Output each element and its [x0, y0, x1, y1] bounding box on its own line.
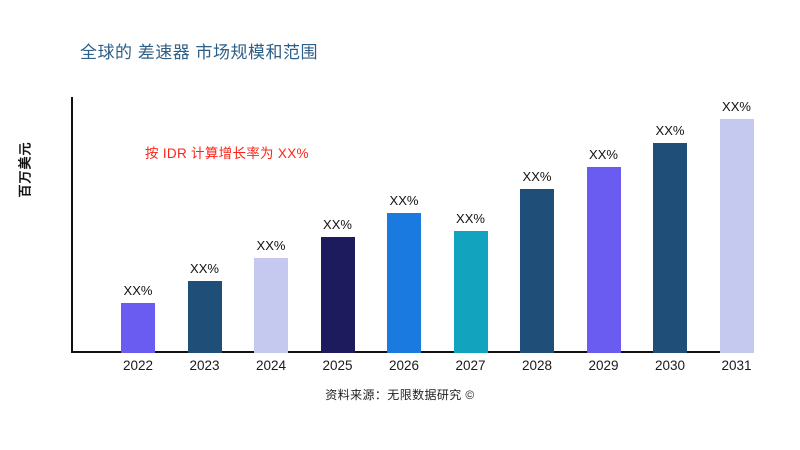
bar-group: XX% [569, 97, 639, 353]
bar-value-label: XX% [656, 124, 685, 137]
y-axis-label: 百万美元 [15, 120, 34, 220]
bar-2029[interactable] [587, 167, 621, 353]
category-label-2031: 2031 [702, 358, 772, 373]
bar-group: XX% [369, 97, 439, 353]
bar-value-label: XX% [323, 218, 352, 231]
bar-2025[interactable] [321, 237, 355, 353]
bar-value-label: XX% [257, 239, 286, 252]
bar-2031[interactable] [720, 119, 754, 353]
category-label-2024: 2024 [236, 358, 306, 373]
bar-group: XX% [170, 97, 240, 353]
bar-value-label: XX% [523, 170, 552, 183]
bar-2028[interactable] [520, 189, 554, 353]
category-label-2026: 2026 [369, 358, 439, 373]
bar-value-label: XX% [390, 194, 419, 207]
bar-value-label: XX% [589, 148, 618, 161]
bar-group: XX% [436, 97, 506, 353]
plot-area: XX%XX%XX%XX%XX%XX%XX%XX%XX%XX% [71, 97, 800, 353]
bar-group: XX% [635, 97, 705, 353]
bar-group: XX% [702, 97, 772, 353]
category-label-2022: 2022 [103, 358, 173, 373]
source-note: 资料来源：无限数据研究 © [0, 386, 800, 403]
chart-container: 全球的 差速器 市场规模和范围 百万美元 XX%XX%XX%XX%XX%XX%X… [0, 0, 800, 450]
growth-rate-annotation: 按 IDR 计算增长率为 XX% [145, 142, 309, 162]
bar-group: XX% [236, 97, 306, 353]
bar-value-label: XX% [456, 212, 485, 225]
category-label-2025: 2025 [303, 358, 373, 373]
category-label-2028: 2028 [502, 358, 572, 373]
bar-2027[interactable] [454, 231, 488, 353]
bar-2024[interactable] [254, 258, 288, 353]
bar-2023[interactable] [188, 281, 222, 353]
category-label-2023: 2023 [170, 358, 240, 373]
bar-value-label: XX% [190, 262, 219, 275]
bar-group: XX% [303, 97, 373, 353]
category-label-2030: 2030 [635, 358, 705, 373]
bar-2026[interactable] [387, 213, 421, 353]
x-axis-categories: 2022202320242025202620272028202920302031 [71, 358, 800, 380]
category-label-2029: 2029 [569, 358, 639, 373]
bar-value-label: XX% [124, 284, 153, 297]
bar-2022[interactable] [121, 303, 155, 353]
bar-value-label: XX% [722, 100, 751, 113]
bar-2030[interactable] [653, 143, 687, 353]
category-label-2027: 2027 [436, 358, 506, 373]
bar-group: XX% [502, 97, 572, 353]
page-title: 全球的 差速器 市场规模和范围 [80, 38, 318, 63]
bar-group: XX% [103, 97, 173, 353]
